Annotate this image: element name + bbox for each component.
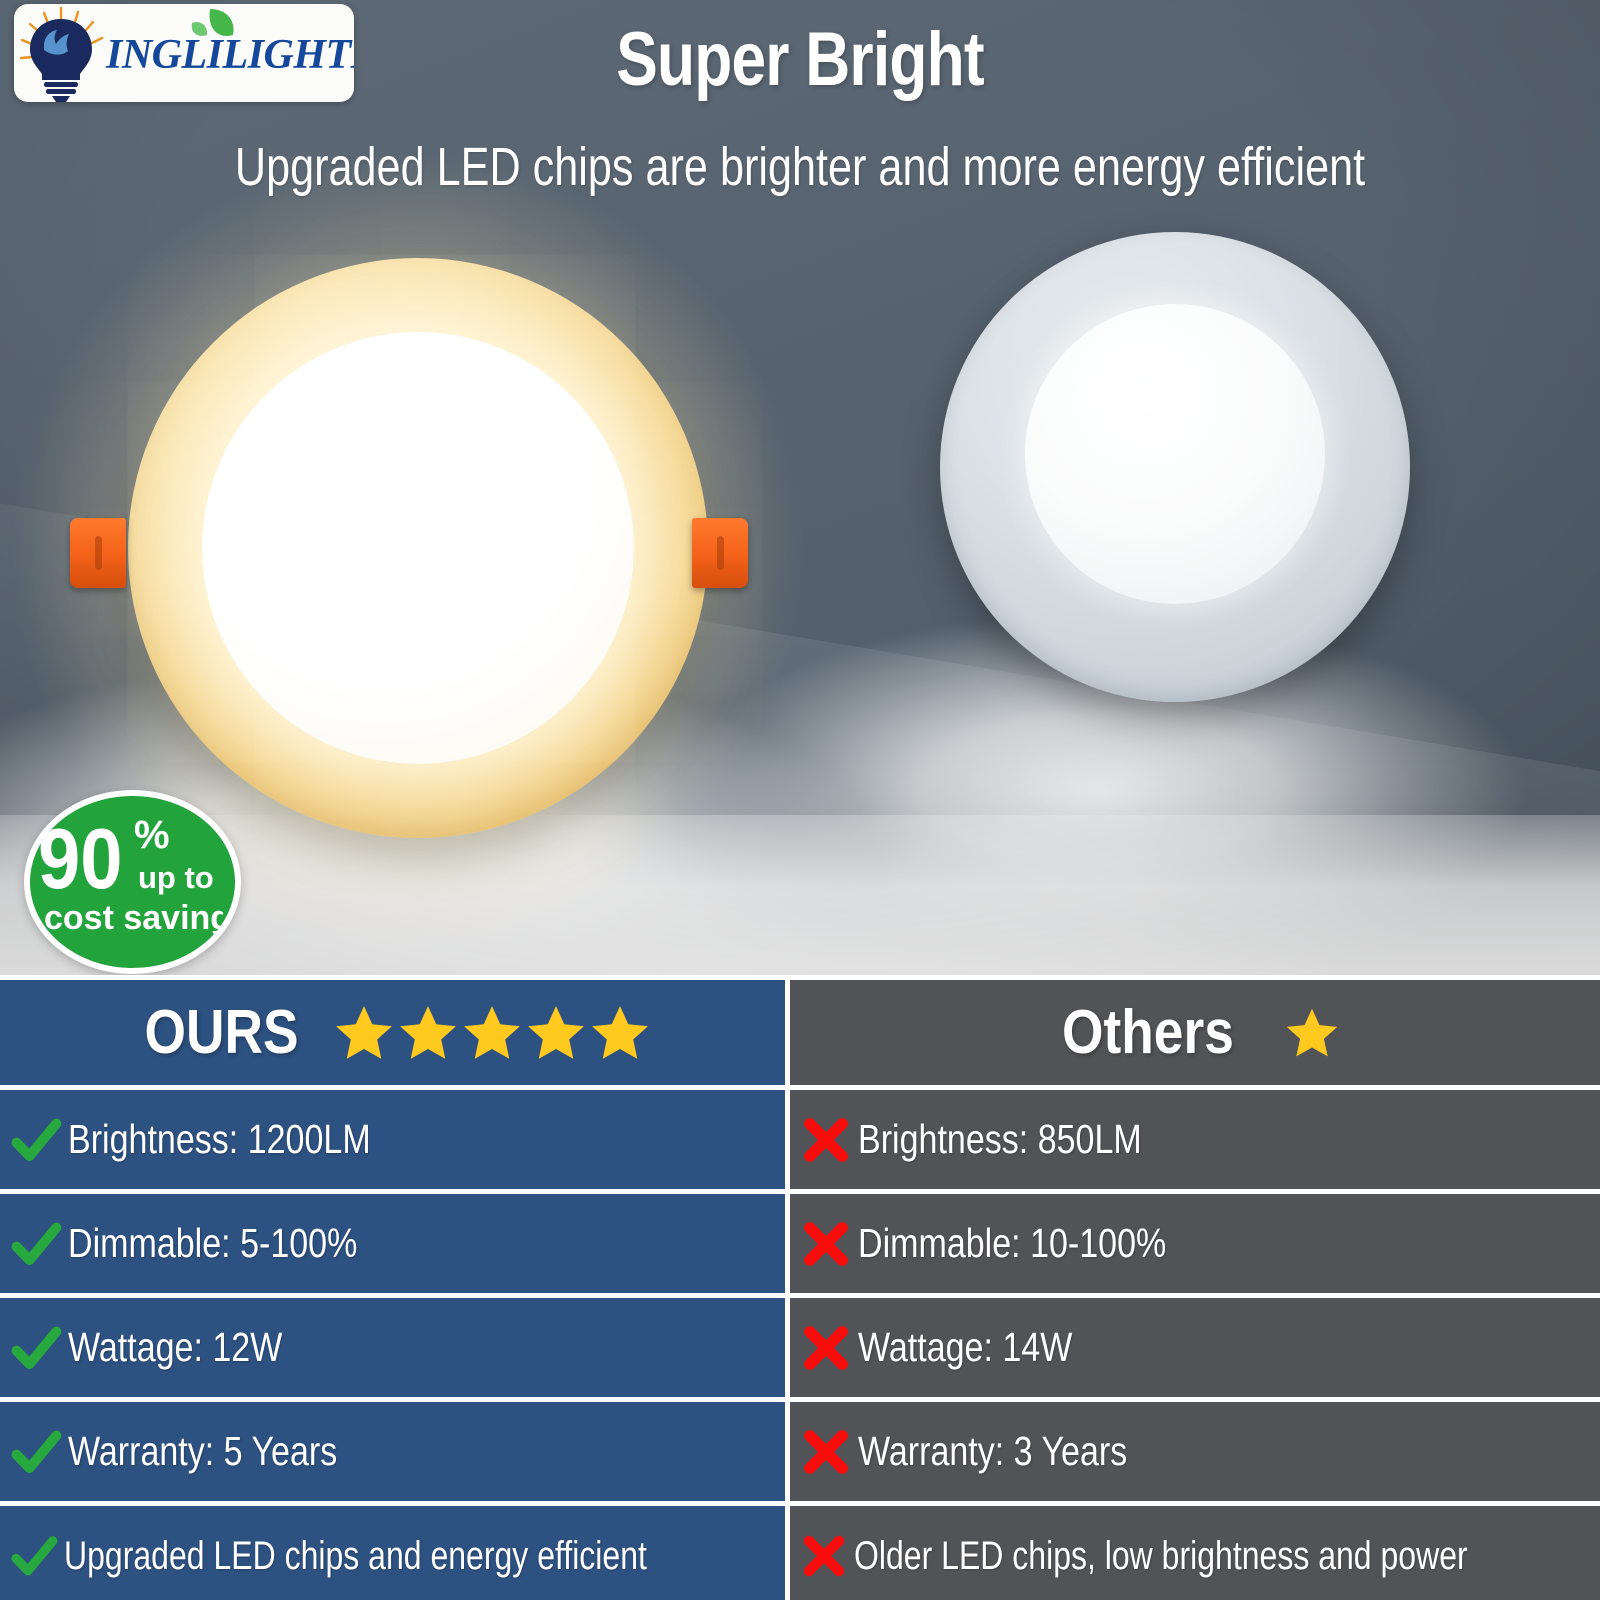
star-icon <box>589 1002 651 1064</box>
spring-clip-icon-left <box>70 518 126 588</box>
star-icon <box>1284 1005 1340 1061</box>
table-row: Wattage: 12W Wattage: 14W <box>0 1298 1600 1397</box>
star-icon <box>333 1002 395 1064</box>
table-header-row: OURS Others <box>0 980 1600 1085</box>
table-row: Dimmable: 5-100% Dimmable: 10-100% <box>0 1194 1600 1293</box>
row-text-ours: Dimmable: 5-100% <box>68 1220 357 1267</box>
check-icon <box>10 1114 62 1166</box>
check-icon <box>10 1218 62 1270</box>
row-cell-others: Wattage: 14W <box>790 1298 1600 1397</box>
page-title: Super Bright <box>144 16 1456 103</box>
others-header-label: Others <box>1062 997 1234 1068</box>
badge-percent: % <box>134 813 170 857</box>
header-cell-others: Others <box>790 980 1600 1085</box>
row-cell-ours: Dimmable: 5-100% <box>0 1194 785 1293</box>
header-cell-ours: OURS <box>0 980 785 1085</box>
row-cell-ours: Upgraded LED chips and energy efficient <box>0 1506 785 1600</box>
badge-upto: up to <box>138 860 214 895</box>
others-downlight-image <box>940 232 1410 702</box>
star-icon <box>525 1002 587 1064</box>
cross-icon <box>800 1218 852 1270</box>
check-icon <box>10 1532 58 1580</box>
hero-section: INGLILIGHTING Super Bright Upgraded LED … <box>0 0 1600 975</box>
row-text-others: Wattage: 14W <box>858 1324 1072 1371</box>
downlight-lens <box>202 332 634 764</box>
cross-icon <box>800 1322 852 1374</box>
row-text-others: Warranty: 3 Years <box>858 1428 1127 1475</box>
row-text-ours: Upgraded LED chips and energy efficient <box>64 1534 647 1579</box>
ours-header-label: OURS <box>144 997 298 1068</box>
cross-icon <box>800 1426 852 1478</box>
infographic-page: INGLILIGHTING Super Bright Upgraded LED … <box>0 0 1600 1600</box>
cost-saving-badge: 90 % up to cost saving <box>24 790 241 974</box>
row-text-others: Older LED chips, low brightness and powe… <box>854 1534 1468 1579</box>
ours-star-rating <box>333 1002 653 1064</box>
row-text-ours: Wattage: 12W <box>68 1324 282 1371</box>
comparison-table: OURS Others Brightness: 1200L <box>0 975 1600 1600</box>
row-text-others: Brightness: 850LM <box>858 1116 1142 1163</box>
row-cell-ours: Wattage: 12W <box>0 1298 785 1397</box>
row-cell-ours: Warranty: 5 Years <box>0 1402 785 1501</box>
competitor-downlight-lens <box>1025 304 1325 604</box>
star-icon <box>397 1002 459 1064</box>
cross-icon <box>800 1114 852 1166</box>
row-cell-others: Dimmable: 10-100% <box>790 1194 1600 1293</box>
row-text-ours: Brightness: 1200LM <box>68 1116 371 1163</box>
table-row: Upgraded LED chips and energy efficient … <box>0 1506 1600 1600</box>
check-icon <box>10 1322 62 1374</box>
cross-icon <box>800 1532 848 1580</box>
page-subtitle: Upgraded LED chips are brighter and more… <box>160 136 1440 198</box>
star-icon <box>461 1002 523 1064</box>
row-cell-others: Brightness: 850LM <box>790 1090 1600 1189</box>
cost-saving-badge-icon: 90 % up to cost saving <box>30 796 223 956</box>
spring-clip-icon-right <box>692 518 748 588</box>
check-icon <box>10 1426 62 1478</box>
row-cell-ours: Brightness: 1200LM <box>0 1090 785 1189</box>
row-cell-others: Older LED chips, low brightness and powe… <box>790 1506 1600 1600</box>
row-text-ours: Warranty: 5 Years <box>68 1428 337 1475</box>
row-text-others: Dimmable: 10-100% <box>858 1220 1166 1267</box>
ours-downlight-image <box>98 240 718 860</box>
table-row: Warranty: 5 Years Warranty: 3 Years <box>0 1402 1600 1501</box>
badge-caption: cost saving <box>44 899 223 937</box>
others-star-rating <box>1270 1005 1342 1061</box>
table-row: Brightness: 1200LM Brightness: 850LM <box>0 1090 1600 1189</box>
badge-value: 90 <box>38 812 123 907</box>
row-cell-others: Warranty: 3 Years <box>790 1402 1600 1501</box>
